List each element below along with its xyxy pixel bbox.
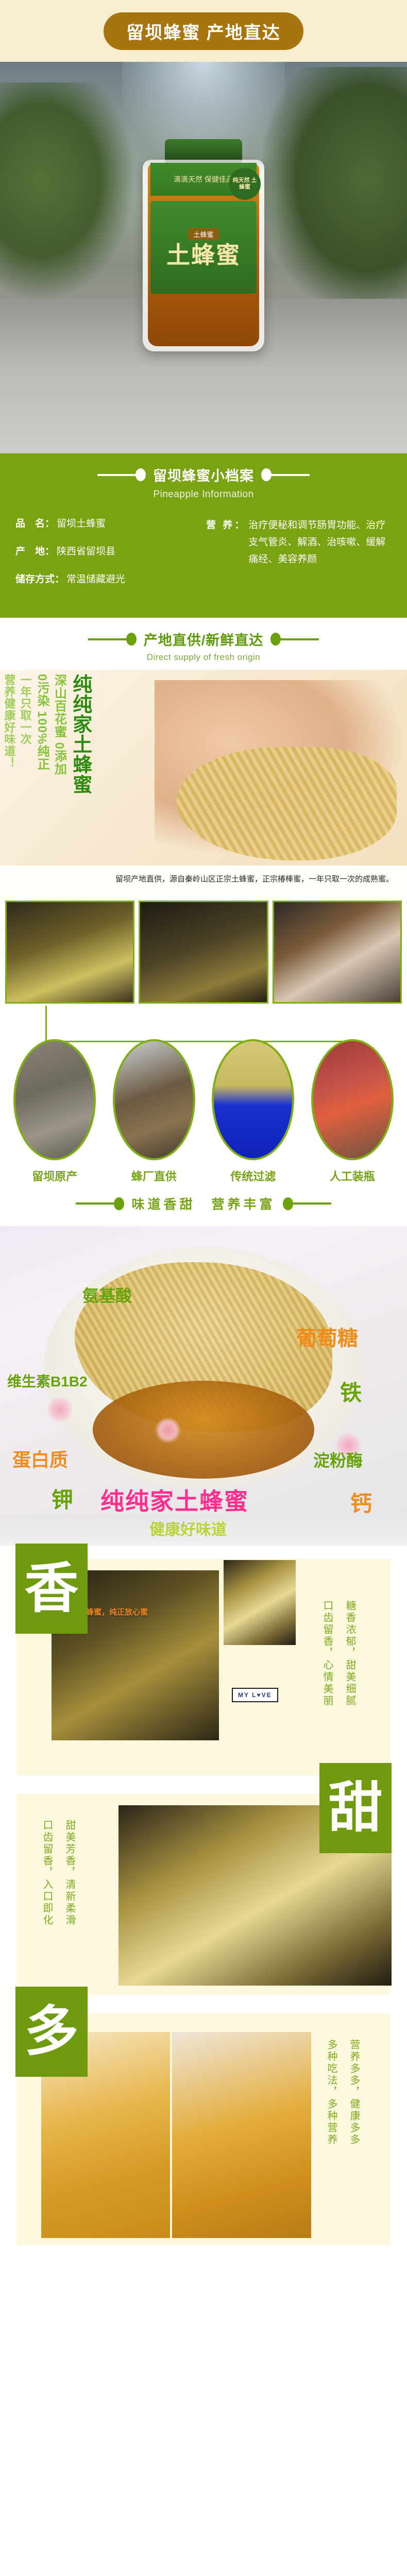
origin-photo: 纯纯家土蜂蜜 深山百花蜜 0添加 0污染 100%纯正 一年只取一次 营养健康好… xyxy=(0,670,407,866)
process-photo-strip xyxy=(0,895,407,1004)
ornament-dot xyxy=(126,633,137,646)
foliage-right xyxy=(263,67,407,314)
ornament-dot xyxy=(283,1197,293,1210)
origin-vertical-slogans: 纯纯家土蜂蜜 深山百花蜜 0添加 0污染 100%纯正 一年只取一次 营养健康好… xyxy=(3,674,91,794)
feature-slogan: 营养多多，健康多多 xyxy=(348,2039,360,2146)
feature-slogan: 糖香浓郁，甜美细腻 xyxy=(344,1600,355,1707)
nutrient-center-title: 纯纯家土蜂蜜 xyxy=(100,1483,249,1515)
ornament-bar xyxy=(293,1202,331,1205)
info-column-left: 品 名： 留坝土蜂蜜 产 地： 陕西省留坝县 储存方式： 常温储藏避光 xyxy=(15,517,206,600)
feature-card: 多 营养多多，健康多多 多种吃法，多种营养 xyxy=(16,2013,391,2245)
origin-subtitle: Direct supply of fresh origin xyxy=(0,652,407,663)
process-oval-photo xyxy=(13,1039,96,1160)
origin-title: 产地直供/新鲜直达 xyxy=(144,629,264,649)
info-column-right: 营 养： 治疗便秘和调节肠胃功能、治疗支气管炎、解酒、治咳嗽、缓解痛经、美容养颜 xyxy=(206,517,392,600)
feature-photo xyxy=(224,1560,296,1645)
ornament-left xyxy=(88,633,137,646)
origin-slogan: 纯纯家土蜂蜜 xyxy=(70,674,91,794)
process-label: 留坝原产 xyxy=(13,1167,96,1184)
honey-pool-illustration xyxy=(93,1381,314,1479)
process-photo xyxy=(273,901,402,1004)
nutrition-key: 营 养： xyxy=(206,517,246,568)
info-value: 常温储藏避光 xyxy=(66,572,125,587)
nutrient-keyword: 氨基酸 xyxy=(82,1283,132,1307)
taste-title: 味道香甜 营养丰富 xyxy=(131,1194,275,1213)
ornament-dot xyxy=(261,468,272,481)
blossom-icon xyxy=(46,1396,73,1423)
taste-heading: 味道香甜 营养丰富 xyxy=(0,1194,407,1213)
ornament-dot xyxy=(270,633,281,646)
jar-label: 土蜂蜜 土蜂蜜 xyxy=(150,201,257,294)
process-labels: 留坝原产 蜂厂直供 传统过滤 人工装瓶 xyxy=(0,1160,407,1184)
jar-product-name: 土蜂蜜 xyxy=(166,243,241,267)
info-subtitle: Pineapple Information xyxy=(0,489,407,500)
process-oval-photo xyxy=(311,1039,394,1160)
blossom-icon xyxy=(155,1417,181,1444)
nutrition-value: 治疗便秘和调节肠胃功能、治疗支气管炎、解酒、治咳嗽、缓解痛经、美容养颜 xyxy=(248,517,392,568)
feature-photo xyxy=(172,2032,311,2238)
ornament-bar xyxy=(97,474,135,476)
process-label: 传统过滤 xyxy=(212,1167,294,1184)
info-value: 陕西省留坝县 xyxy=(57,545,115,559)
origin-slogan: 营养健康好味道！ xyxy=(3,674,15,794)
feature-slogan: 口齿留香，心情美丽 xyxy=(321,1600,333,1707)
feature-card: 甜 甜美芳香，清新柔滑 口齿留香，入口即化 xyxy=(16,1794,391,1995)
origin-slogan: 一年只取一次 xyxy=(19,674,31,794)
process-oval-photos xyxy=(0,1039,407,1160)
jar-badge: 纯天然 土蜂蜜 xyxy=(229,168,261,200)
origin-description: 留坝产地直供，源自秦岭山区正宗土蜂蜜，正宗椿棒蜜，一年只取一次的成熟蜜。 xyxy=(0,866,407,895)
ornament-left xyxy=(97,468,146,481)
process-label: 蜂厂直供 xyxy=(113,1167,195,1184)
taste-section-header: 味道香甜 营养丰富 xyxy=(0,1184,407,1226)
info-title: 留坝蜂蜜小档案 xyxy=(153,465,254,485)
foliage-left xyxy=(0,82,134,299)
ornament-bar xyxy=(76,1202,114,1205)
tree-connector xyxy=(45,1006,47,1042)
nutrient-subtitle-band: 健康好味道 xyxy=(0,1515,407,1546)
info-heading: 留坝蜂蜜小档案 xyxy=(0,465,407,485)
product-detail-page: 留坝蜂蜜 产地直达 滴滴天然 保健佳品 土蜂蜜 土蜂蜜 纯天然 土蜂蜜 xyxy=(0,0,407,2268)
process-label: 人工装瓶 xyxy=(311,1167,394,1184)
info-row: 品 名： 留坝土蜂蜜 xyxy=(15,517,206,531)
ornament-right xyxy=(270,633,319,646)
feature-tag: 甜 xyxy=(319,1763,392,1853)
origin-section-header: 产地直供/新鲜直达 Direct supply of fresh origin xyxy=(0,618,407,665)
origin-heading: 产地直供/新鲜直达 xyxy=(0,629,407,649)
feature-card: 香 纯正土蜂蜜，纯正放心蜜 MY L♥VE 糖香浓郁，甜美细腻 口齿留香，心情美… xyxy=(16,1559,391,1775)
nutrient-keyword: 钾 xyxy=(52,1483,73,1514)
process-photo xyxy=(5,901,134,1004)
info-key: 储存方式： xyxy=(15,572,64,587)
feature-fragrance: 香 纯正土蜂蜜，纯正放心蜜 MY L♥VE 糖香浓郁，甜美细腻 口齿留香，心情美… xyxy=(0,1546,407,1781)
info-key: 产 地： xyxy=(15,545,55,559)
process-oval-photo xyxy=(113,1039,195,1160)
ornament-bar xyxy=(272,474,310,476)
feature-slogan: 甜美芳香，清新柔滑 xyxy=(64,1820,75,1926)
ornament-dot xyxy=(135,468,146,481)
origin-slogan: 0污染 100%纯正 xyxy=(36,674,48,794)
nutrient-keyword: 葡萄糖 xyxy=(296,1321,358,1351)
feature-tag: 香 xyxy=(15,1544,88,1634)
ornament-bar xyxy=(281,638,319,640)
nutrient-keywords-block: 氨基酸 葡萄糖 维生素B1B2 铁 蛋白质 淀粉酶 钾 钙 纯纯家土蜂蜜 xyxy=(0,1226,407,1515)
info-row: 产 地： 陕西省留坝县 xyxy=(15,545,206,559)
process-oval-photo xyxy=(212,1039,294,1160)
info-columns: 品 名： 留坝土蜂蜜 产 地： 陕西省留坝县 储存方式： 常温储藏避光 营 养：… xyxy=(0,517,407,600)
feature-slogan: 口齿留香，入口即化 xyxy=(41,1820,53,1926)
nutrient-keyword: 淀粉酶 xyxy=(313,1448,363,1471)
info-key: 品 名： xyxy=(15,517,55,531)
ornament-bar xyxy=(88,638,126,640)
info-row: 储存方式： 常温储藏避光 xyxy=(15,572,206,587)
ornament-dot xyxy=(114,1197,124,1210)
feature-slogans: 营养多多，健康多多 多种吃法，多种营养 xyxy=(326,2039,360,2146)
ornament-right xyxy=(261,468,310,481)
process-tree-diagram xyxy=(0,1006,407,1160)
feature-badge: MY L♥VE xyxy=(232,1688,278,1702)
feature-slogans: 糖香浓郁，甜美细腻 口齿留香，心情美丽 xyxy=(321,1600,355,1707)
process-photo xyxy=(139,901,268,1004)
jar-brand-mark: 土蜂蜜 xyxy=(188,228,218,240)
feature-tag: 多 xyxy=(15,1987,88,2077)
ornament-left xyxy=(76,1197,124,1210)
product-info-panel: 留坝蜂蜜小档案 Pineapple Information 品 名： 留坝土蜂蜜… xyxy=(0,453,407,618)
feature-sweetness: 甜 甜美芳香，清新柔滑 口齿留香，入口即化 xyxy=(0,1781,407,2000)
nutrient-center-subtitle: 健康好味道 xyxy=(149,1517,227,1539)
feature-variety: 多 营养多多，健康多多 多种吃法，多种营养 xyxy=(0,2000,407,2268)
banner-title: 留坝蜂蜜 产地直达 xyxy=(104,12,303,50)
origin-slogan: 深山百花蜜 0添加 xyxy=(53,674,65,794)
nutrient-keyword: 铁 xyxy=(340,1376,362,1407)
honey-jar: 滴滴天然 保健佳品 土蜂蜜 土蜂蜜 纯天然 土蜂蜜 xyxy=(139,139,268,355)
hero-product-photo: 滴滴天然 保健佳品 土蜂蜜 土蜂蜜 纯天然 土蜂蜜 xyxy=(0,62,407,453)
feature-slogan: 多种吃法，多种营养 xyxy=(326,2039,337,2146)
info-value: 留坝土蜂蜜 xyxy=(57,517,106,531)
ornament-right xyxy=(283,1197,331,1210)
nutrient-keyword: 钙 xyxy=(350,1486,372,1515)
feature-slogans: 甜美芳香，清新柔滑 口齿留香，入口即化 xyxy=(41,1820,75,1926)
page-header: 留坝蜂蜜 产地直达 xyxy=(0,0,407,62)
nutrient-keyword: 维生素B1B2 xyxy=(7,1370,88,1391)
nutrition-row: 营 养： 治疗便秘和调节肠胃功能、治疗支气管炎、解酒、治咳嗽、缓解痛经、美容养颜 xyxy=(206,517,392,568)
nutrient-keyword: 蛋白质 xyxy=(12,1445,68,1472)
